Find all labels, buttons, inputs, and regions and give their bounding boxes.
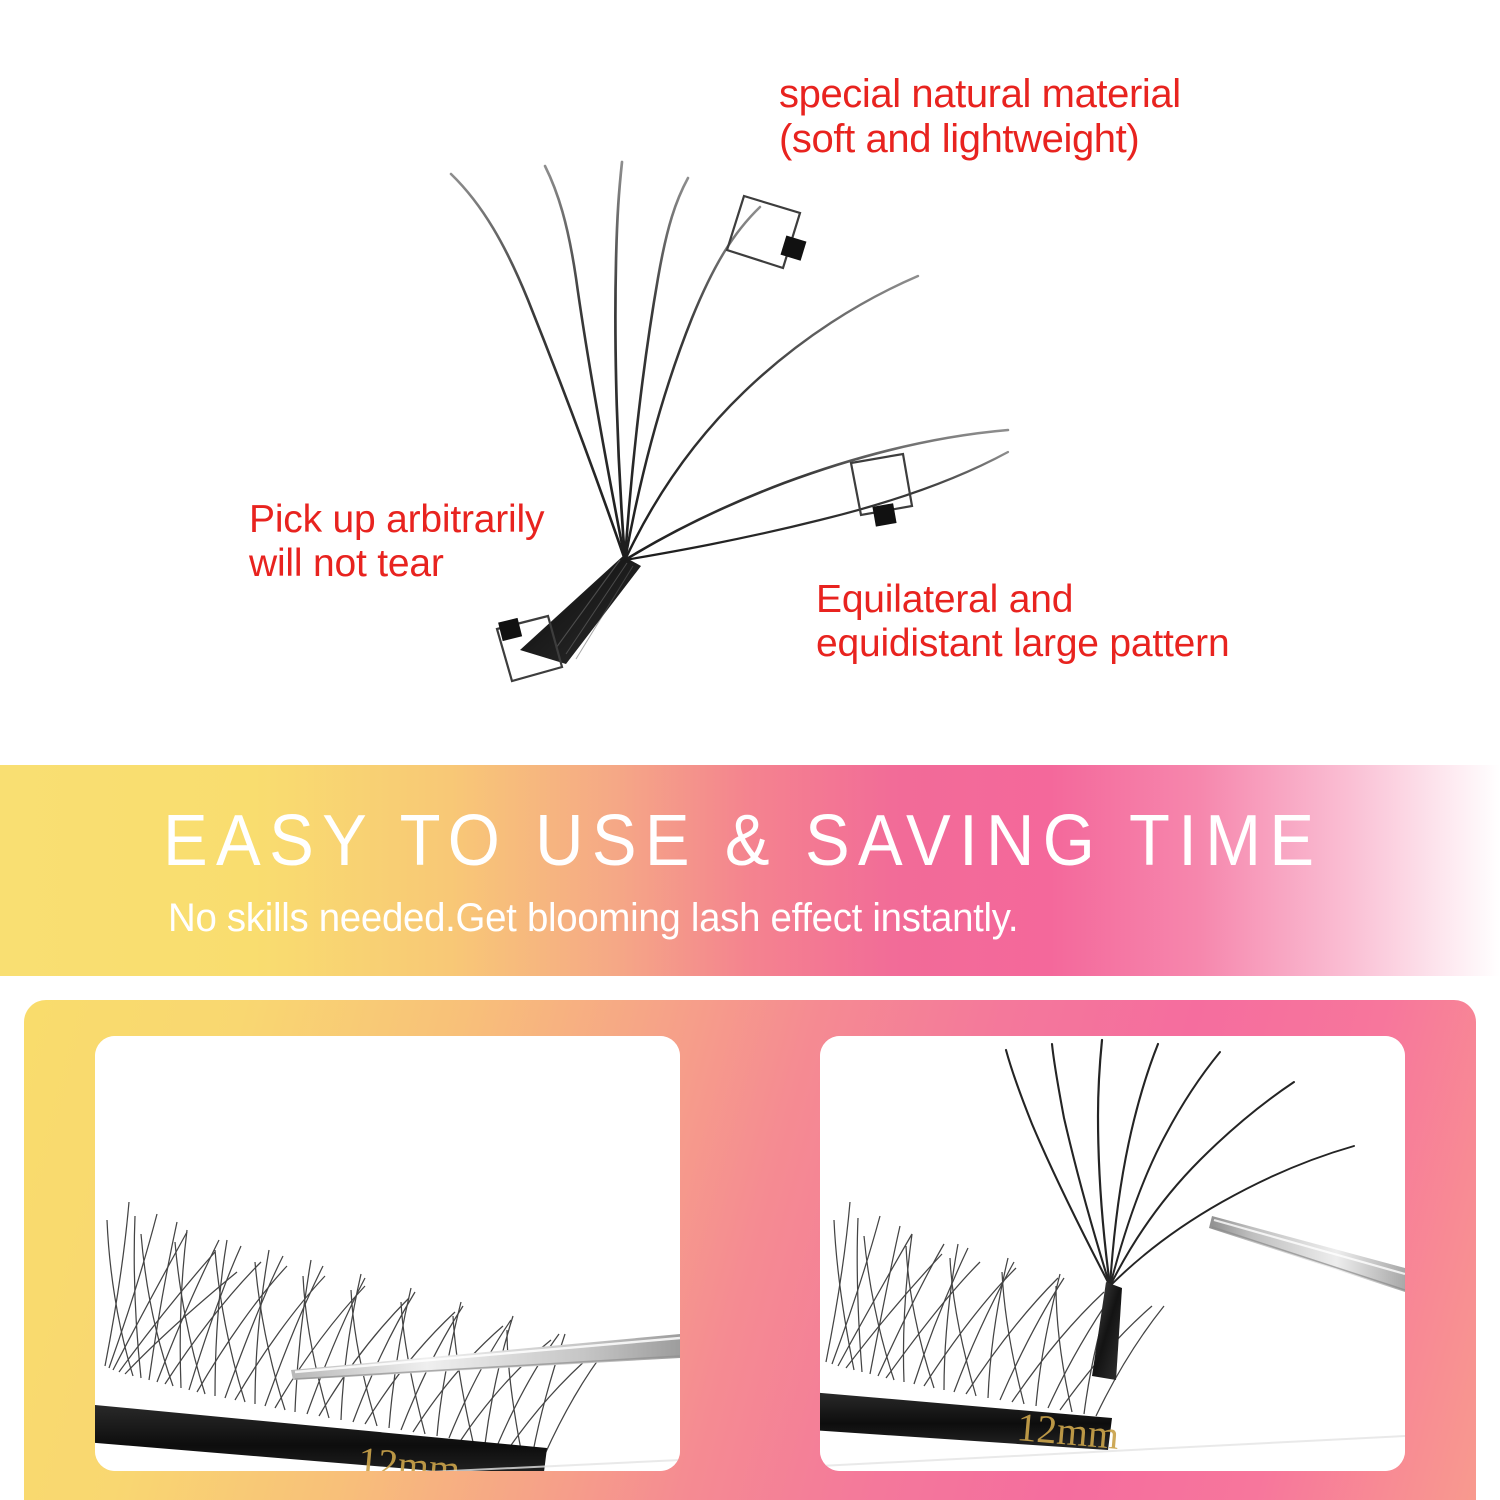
banner-title: EASY TO USE & SAVING TIME [163,800,1279,882]
callout-durability: Pick up arbitrarily will not tear [249,498,544,585]
photo-card-lash-tray: 12mm [95,1036,680,1471]
callout-pattern: Equilateral and equidistant large patter… [816,578,1229,665]
hero-diagram-section: special natural material (soft and light… [0,0,1500,765]
measure-marker-right [851,454,912,527]
lash-tray-photo: 12mm [95,1036,680,1471]
photo-card-lash-fan: 12mm [820,1036,1405,1471]
foil-size-label: 12mm [1015,1404,1121,1458]
product-feature-page: special natural material (soft and light… [0,0,1500,1500]
lash-fan-lifted-photo: 12mm [820,1036,1405,1471]
photo-gallery-panel: 12mm [24,1000,1476,1500]
callout-material: special natural material (soft and light… [779,72,1181,162]
lash-fan-illustration [0,0,1500,765]
banner-subtitle: No skills needed.Get blooming lash effec… [168,896,1368,941]
